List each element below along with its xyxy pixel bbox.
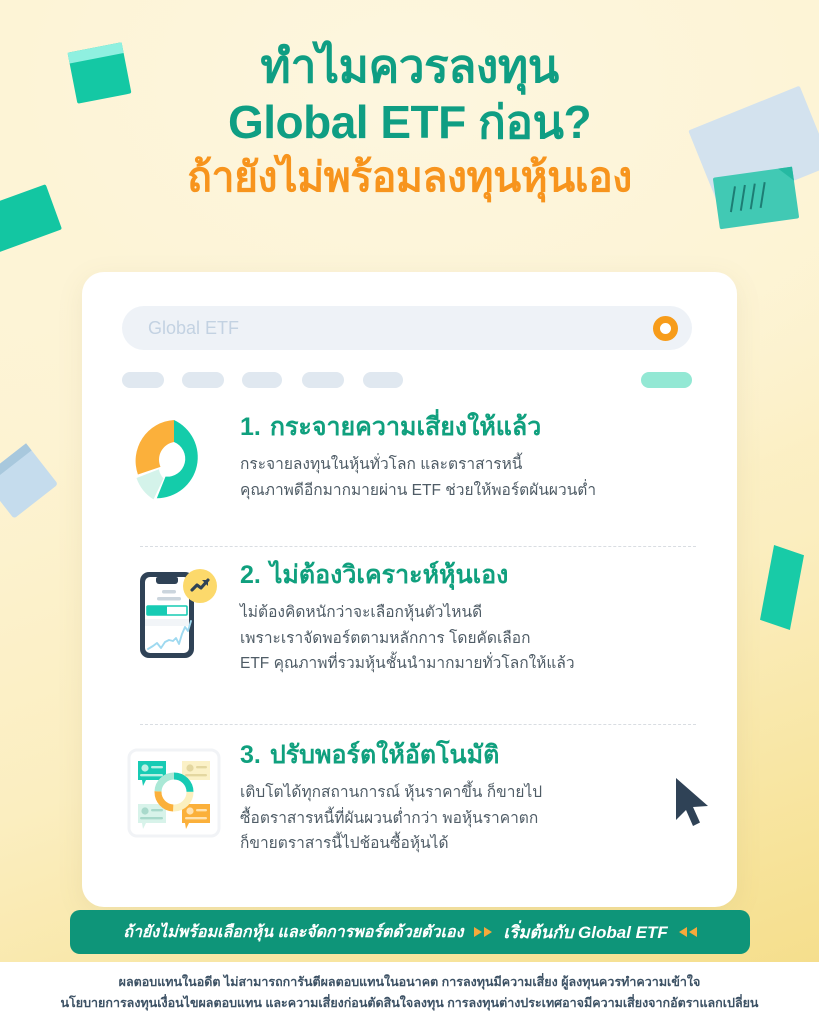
cta-text-left: ถ้ายังไม่พร้อมเลือกหุ้น และจัดการพอร์ตด้…: [123, 920, 463, 945]
filter-pill-4[interactable]: [302, 372, 344, 388]
feature-1-heading: 1.กระจายความเสี่ยงให้แล้ว: [240, 412, 708, 442]
feature-2-desc-line-3: ETF คุณภาพที่รวมหุ้นชั้นนำมากมายทั่วโลกใ…: [240, 651, 708, 677]
feature-1-icon-wrap: [118, 412, 230, 506]
feature-2-body: 2.ไม่ต้องวิเคราะห์หุ้นเอง ไม่ต้องคิดหนัก…: [230, 560, 708, 677]
cta-text-right: เริ่มต้นกับ Global ETF: [503, 919, 667, 946]
feature-item-2: 2.ไม่ต้องวิเคราะห์หุ้นเอง ไม่ต้องคิดหนัก…: [118, 560, 708, 677]
search-circle-icon[interactable]: [653, 316, 678, 341]
feature-1-desc-line-2: คุณภาพดีอีกมากมายผ่าน ETF ช่วยให้พอร์ตผั…: [240, 478, 708, 504]
feature-2-heading: 2.ไม่ต้องวิเคราะห์หุ้นเอง: [240, 560, 708, 590]
donut-chart-icon: [129, 416, 219, 506]
cta-banner[interactable]: ถ้ายังไม่พร้อมเลือกหุ้น และจัดการพอร์ตด้…: [70, 910, 750, 954]
feature-1-desc-line-1: กระจายลงทุนในหุ้นทั่วโลก และตราสารหนี้: [240, 452, 708, 478]
feature-3-icon-wrap: [118, 740, 230, 842]
feature-3-number: 3.: [240, 741, 261, 769]
feature-item-1: 1.กระจายความเสี่ยงให้แล้ว กระจายลงทุนในห…: [118, 412, 708, 506]
feature-2-title: ไม่ต้องวิเคราะห์หุ้นเอง: [270, 561, 509, 589]
double-arrow-left-icon: [679, 927, 697, 937]
feature-3-desc-line-3: ก็ขายตราสารนี้ไปช้อนซื้อหุ้นได้: [240, 831, 708, 857]
title-line-2: Global ETF ก่อน?: [0, 94, 819, 150]
feature-2-desc-line-2: เพราะเราจัดพอร์ตตามหลักการ โดยคัดเลือก: [240, 626, 708, 652]
title-line-1: ทำไมควรลงทุน: [0, 38, 819, 94]
smartphone-chart-icon: [124, 564, 224, 662]
feature-1-body: 1.กระจายความเสี่ยงให้แล้ว กระจายลงทุนในห…: [230, 412, 708, 503]
feature-3-body: 3.ปรับพอร์ตให้อัตโนมัติ เติบโตได้ทุกสถาน…: [230, 740, 708, 857]
feature-3-heading: 3.ปรับพอร์ตให้อัตโนมัติ: [240, 740, 708, 770]
disclaimer-line-2: นโยบายการลงทุนเงื่อนไขผลตอบแทน และความเส…: [61, 995, 759, 1012]
section-divider-1: [140, 546, 696, 547]
filter-pill-3[interactable]: [242, 372, 282, 388]
filter-pill-2[interactable]: [182, 372, 224, 388]
blue-square-left-icon: [0, 443, 58, 518]
feature-2-number: 2.: [240, 561, 261, 589]
title-subtitle: ถ้ายังไม่พร้อมลงทุนหุ้นเอง: [0, 152, 819, 203]
auto-rebalance-cards-icon: [124, 744, 224, 842]
section-divider-2: [140, 724, 696, 725]
search-input-value: Global ETF: [148, 318, 653, 339]
infographic-poster: ทำไมควรลงทุน Global ETF ก่อน? ถ้ายังไม่พ…: [0, 0, 819, 1024]
feature-3-desc-line-2: ซื้อตราสารหนี้ที่ผันผวนต่ำกว่า พอหุ้นราค…: [240, 806, 708, 832]
disclaimer-block: ผลตอบแทนในอดีต ไม่สามารถการันตีผลตอบแทนใ…: [0, 962, 819, 1024]
feature-2-desc-line-1: ไม่ต้องคิดหนักว่าจะเลือกหุ้นตัวไหนดี: [240, 600, 708, 626]
feature-2-icon-wrap: [118, 560, 230, 662]
feature-2-description: ไม่ต้องคิดหนักว่าจะเลือกหุ้นตัวไหนดี เพร…: [240, 600, 708, 677]
feature-3-title: ปรับพอร์ตให้อัตโนมัติ: [270, 741, 500, 769]
filter-pill-5[interactable]: [363, 372, 403, 388]
feature-1-description: กระจายลงทุนในหุ้นทั่วโลก และตราสารหนี้ ค…: [240, 452, 708, 503]
feature-3-description: เติบโตได้ทุกสถานการณ์ หุ้นราคาขึ้น ก็ขาย…: [240, 780, 708, 857]
double-arrow-right-icon: [474, 927, 492, 937]
feature-item-3: 3.ปรับพอร์ตให้อัตโนมัติ เติบโตได้ทุกสถาน…: [118, 740, 708, 857]
search-input[interactable]: Global ETF: [122, 306, 692, 350]
mouse-cursor-icon: [672, 776, 716, 837]
disclaimer-line-1: ผลตอบแทนในอดีต ไม่สามารถการันตีผลตอบแทนใ…: [119, 974, 701, 991]
filter-pill-accent[interactable]: [641, 372, 692, 388]
feature-1-title: กระจายความเสี่ยงให้แล้ว: [270, 413, 541, 441]
filter-pill-1[interactable]: [122, 372, 164, 388]
feature-3-desc-line-1: เติบโตได้ทุกสถานการณ์ หุ้นราคาขึ้น ก็ขาย…: [240, 780, 708, 806]
poster-header: ทำไมควรลงทุน Global ETF ก่อน? ถ้ายังไม่พ…: [0, 38, 819, 203]
feature-1-number: 1.: [240, 413, 261, 441]
content-card: Global ETF: [82, 272, 737, 907]
teal-parallelogram-right-icon: [760, 545, 804, 630]
filter-pill-row: [122, 372, 692, 388]
